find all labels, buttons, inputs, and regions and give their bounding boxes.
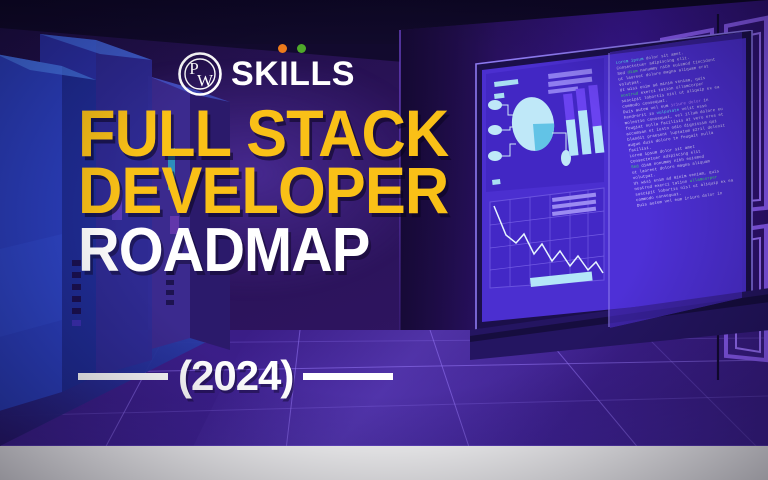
year-rule-right [303, 373, 393, 380]
analytics-dashboard [486, 58, 604, 288]
year-label: (2024) [168, 355, 303, 397]
bottom-white-strip [0, 446, 768, 480]
line-chart [490, 188, 604, 288]
logo-wordmark: SKILLS [231, 57, 355, 91]
year-rule-left [78, 373, 168, 380]
poster-root: Lorem ipsum dolor sit amet.Consectetuer … [0, 0, 768, 480]
headline-block: FULL STACK DEVELOPER ROADMAP [78, 106, 478, 277]
logo-letter-w: W [197, 71, 214, 90]
pw-skills-logo[interactable]: P W SKILLS [178, 48, 370, 100]
headline-line-3: ROADMAP [78, 225, 450, 277]
logo-wordmark-text: SKILLS [231, 55, 355, 93]
green-dot [297, 44, 306, 53]
pw-circle-logo: P W [178, 52, 222, 96]
wall-display[interactable]: Lorem ipsum dolor sit amet.Consectetuer … [470, 30, 768, 360]
bar-chart [562, 85, 604, 156]
documentation-pane: Lorem ipsum dolor sit amet.Consectetuer … [610, 32, 742, 328]
orange-dot [278, 44, 287, 53]
headline-line-2: DEVELOPER [78, 163, 450, 218]
year-row: (2024) [78, 352, 478, 400]
